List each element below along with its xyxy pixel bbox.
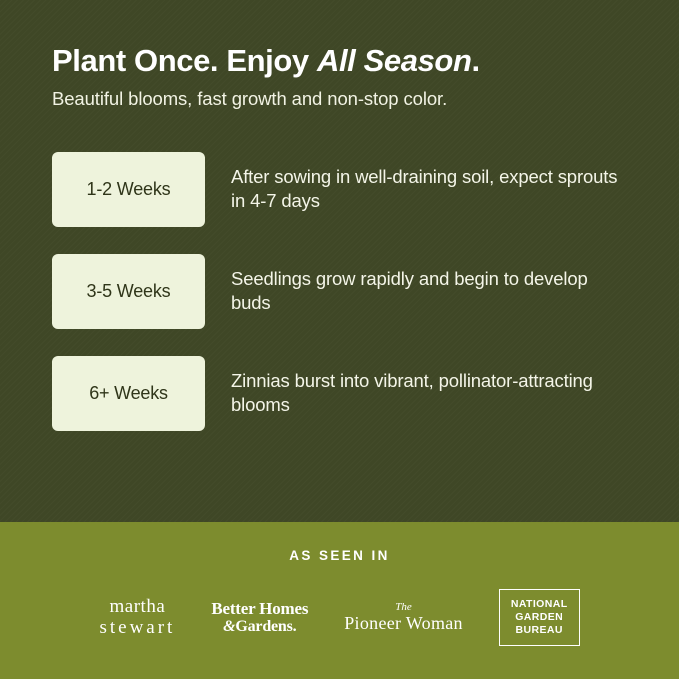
- headline-part1: Plant Once. Enjoy: [52, 43, 317, 78]
- timeline-chip-3: 6+ Weeks: [52, 356, 205, 431]
- timeline-text-3: Zinnias burst into vibrant, pollinator-a…: [231, 369, 627, 418]
- logo-bhg-ampersand: &: [223, 618, 235, 635]
- timeline-list: 1-2 Weeks After sowing in well-draining …: [52, 152, 627, 431]
- logo-bhg-line2: &Gardens.: [211, 618, 308, 636]
- headline-italic: All Season: [317, 43, 472, 78]
- logo-row: martha stewart Better Homes &Gardens. Th…: [0, 589, 679, 646]
- logo-bhg-gardens: Gardens.: [235, 618, 296, 635]
- timeline-chip-2: 3-5 Weeks: [52, 254, 205, 329]
- logo-bhg-line1: Better Homes: [211, 600, 308, 619]
- top-section: Plant Once. Enjoy All Season. Beautiful …: [0, 0, 679, 522]
- page-title: Plant Once. Enjoy All Season.: [52, 44, 627, 79]
- page-subtitle: Beautiful blooms, fast growth and non-st…: [52, 87, 627, 110]
- list-item: 3-5 Weeks Seedlings grow rapidly and beg…: [52, 254, 627, 329]
- list-item: 6+ Weeks Zinnias burst into vibrant, pol…: [52, 356, 627, 431]
- logo-ngb-line2: GARDEN: [511, 611, 568, 624]
- logo-pioneer-woman: The Pioneer Woman: [344, 602, 463, 632]
- logo-martha-stewart: martha stewart: [99, 597, 175, 639]
- as-seen-in-band: AS SEEN IN martha stewart Better Homes &…: [0, 522, 679, 679]
- list-item: 1-2 Weeks After sowing in well-draining …: [52, 152, 627, 227]
- headline-part2: .: [471, 43, 479, 78]
- logo-pioneer-line2: Pioneer Woman: [344, 614, 463, 633]
- logo-martha-line2: stewart: [99, 618, 175, 639]
- as-seen-in-label: AS SEEN IN: [289, 548, 390, 563]
- logo-ngb-line1: NATIONAL: [511, 598, 568, 611]
- timeline-text-1: After sowing in well-draining soil, expe…: [231, 165, 627, 214]
- timeline-chip-1: 1-2 Weeks: [52, 152, 205, 227]
- logo-martha-line1: martha: [99, 597, 175, 618]
- logo-better-homes-gardens: Better Homes &Gardens.: [211, 600, 308, 636]
- timeline-text-2: Seedlings grow rapidly and begin to deve…: [231, 267, 627, 316]
- logo-ngb-line3: BUREAU: [511, 624, 568, 637]
- logo-national-garden-bureau: NATIONAL GARDEN BUREAU: [499, 589, 580, 646]
- infographic-page: Plant Once. Enjoy All Season. Beautiful …: [0, 0, 679, 679]
